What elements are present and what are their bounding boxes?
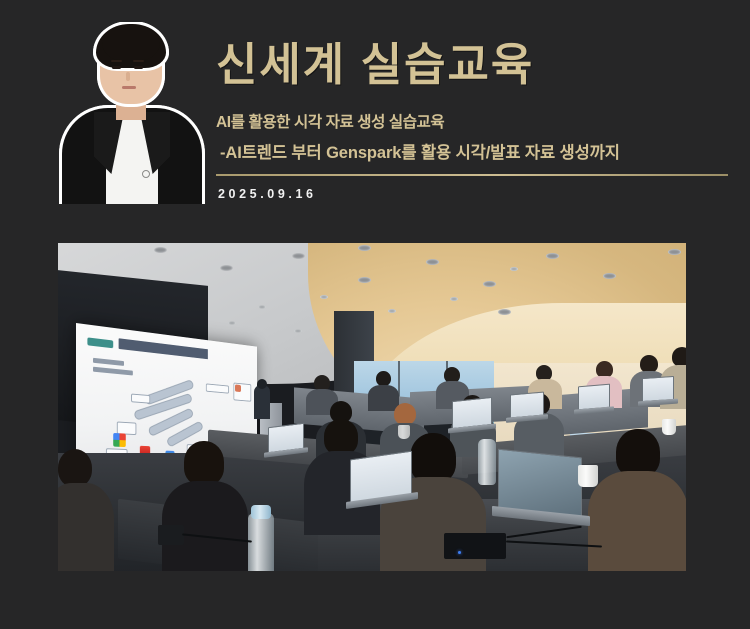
attendee-body	[368, 385, 399, 411]
power-adapter-icon	[158, 525, 184, 545]
attendee-head-foreground	[184, 441, 224, 485]
downlight-icon	[320, 295, 328, 299]
downlight-icon	[668, 249, 681, 255]
portrait-hair	[96, 24, 166, 68]
downlight-icon	[546, 253, 559, 259]
slide-tag-badge	[87, 337, 113, 348]
slide-title-text	[119, 338, 234, 362]
downlight-icon	[294, 329, 302, 333]
downlight-icon	[228, 321, 236, 325]
downlight-icon	[603, 273, 616, 279]
attendee-head-foreground	[58, 449, 92, 487]
presentation-slide: 신세계 실습교육 AI를 활용한 시각 자료 생성 실습교육 -AI트렌드 부터…	[0, 0, 750, 629]
portrait-eye-left	[112, 66, 121, 69]
presenter-head	[257, 379, 267, 389]
instructor-portrait-figure	[58, 22, 206, 204]
portrait-eyebrow-left	[111, 60, 122, 62]
subtitle-line-2: -AI트렌드 부터 Genspark를 활용 시각/발표 자료 생성까지	[220, 139, 736, 163]
downlight-icon	[258, 305, 266, 309]
downlight-icon	[358, 245, 371, 251]
attendee-body-foreground	[58, 483, 114, 571]
attendee-head	[376, 371, 391, 386]
downlight-icon	[510, 267, 518, 271]
portrait-shirt-logo-icon	[142, 170, 150, 178]
slide-subtitle-line-2	[93, 367, 133, 376]
downlight-icon	[450, 297, 458, 301]
attendee-head	[394, 403, 416, 425]
paper-cup-icon	[662, 419, 676, 435]
power-adapter-icon	[444, 533, 506, 559]
claude-icon	[235, 384, 241, 392]
subtitle-line-1: AI를 활용한 시각 자료 생성 실습교육	[216, 110, 736, 132]
portrait-eyebrow-right	[133, 60, 144, 62]
google-drive-icon	[113, 433, 126, 447]
slide-subtitle-line-1	[93, 358, 124, 366]
ceiling-speaker-icon	[498, 309, 511, 315]
attendee-head-foreground	[324, 419, 358, 455]
portrait-mouth	[122, 86, 136, 89]
portrait-nose	[126, 72, 130, 81]
title-block: 신세계 실습교육 AI를 활용한 시각 자료 생성 실습교육 -AI트렌드 부터…	[216, 40, 736, 163]
diagram-node-mcp-client	[206, 383, 229, 393]
attendee-head	[672, 347, 686, 367]
diagram-node-mcp	[131, 394, 150, 404]
downlight-icon	[483, 281, 496, 287]
downlight-icon	[358, 277, 371, 283]
portrait-eye-right	[134, 66, 143, 69]
attendee-head-foreground	[616, 429, 660, 477]
paper-cup-icon	[398, 425, 410, 439]
divider	[216, 174, 728, 176]
paper-cup-icon	[578, 465, 598, 487]
page-title: 신세계 실습교육	[216, 40, 736, 90]
header-section: 신세계 실습교육 AI를 활용한 시각 자료 생성 실습교육 -AI트렌드 부터…	[0, 0, 750, 228]
downlight-icon	[426, 259, 439, 265]
downlight-icon	[154, 247, 167, 253]
adapter-led-indicator	[458, 551, 461, 554]
downlight-icon	[388, 309, 396, 313]
water-bottle-icon	[478, 439, 496, 485]
presenter-body	[254, 385, 270, 419]
date-label: 2025.09.16	[218, 187, 317, 201]
classroom-photo	[58, 243, 686, 571]
downlight-icon	[220, 265, 233, 271]
attendee-body-foreground	[588, 471, 686, 571]
avatar	[58, 22, 206, 204]
water-bottle-cap	[251, 505, 271, 519]
attendee-head-foreground	[410, 433, 456, 483]
downlight-icon	[292, 253, 305, 259]
photo-inner	[58, 243, 686, 571]
water-bottle-icon	[248, 513, 274, 571]
